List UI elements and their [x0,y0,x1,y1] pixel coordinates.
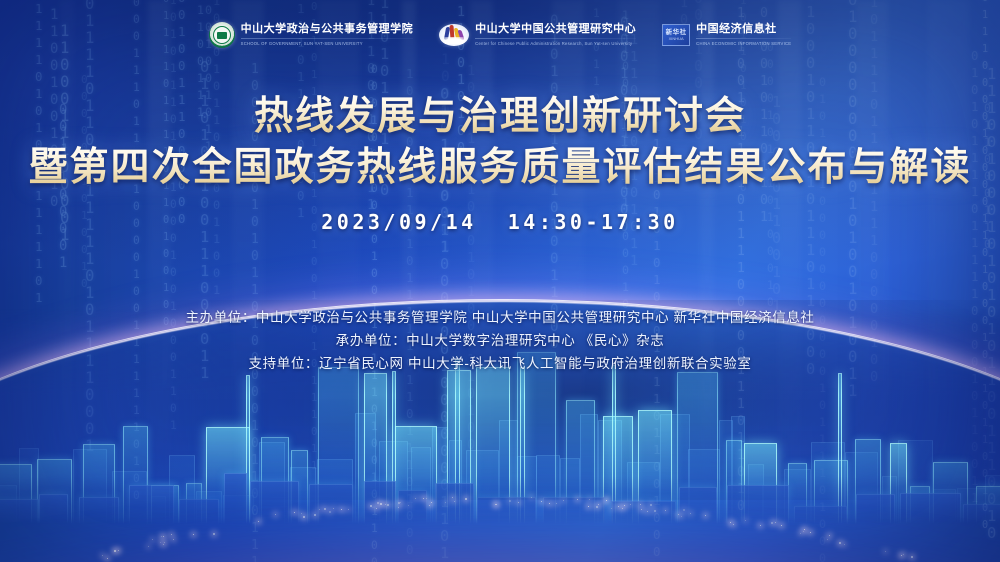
logo-en-name: Center for Chinese Public Administration… [475,40,636,47]
organizer-line-supporter: 支持单位：辽宁省民心网 中山大学-科大讯飞人工智能与政府治理创新联合实验室 [0,352,1000,375]
conference-poster: 0 0 1 0 1 0 0 0 0 1 0 1 1 1 1 1 0 0 1 1 … [0,0,1000,562]
skyline-building [963,504,1000,524]
skyline-building [543,497,605,524]
logo-school-of-government: 中山大学政治与公共事务管理学院 SCHOOL OF GOVERNMENT, SU… [209,22,414,48]
skyline-building [179,499,219,524]
skyline-building [224,473,247,524]
skyline-building [727,485,789,524]
skyline-building [250,481,299,524]
skyline-building [39,494,68,524]
logo-en-name: SCHOOL OF GOVERNMENT, SUN YAT-SEN UNIVER… [241,40,414,47]
logo-china-economic-information-service: 新华社XINHUA 中国经济信息社 CHINA ECONOMIC INFORMA… [662,23,791,47]
skyline-building [794,506,847,524]
skyline-building [309,484,353,524]
sysu-school-of-government-emblem-icon [209,22,235,48]
main-title-line-2: 暨第四次全国政务热线服务质量评估结果公布与解读 [0,142,1000,194]
skyline-building [129,485,174,524]
logo-ccpa-research-center: 中山大学中国公共管理研究中心 Center for Chinese Public… [439,23,636,47]
skyline-spire [838,373,842,524]
skyline-building [398,490,427,524]
logo-cn-name: 中山大学中国公共管理研究中心 [475,23,636,36]
logo-divider [475,38,636,39]
skyline-building [611,501,676,524]
skyline-building [679,487,717,524]
logo-divider [241,38,414,39]
skyline-building [364,481,396,524]
main-title-line-1: 热线发展与治理创新研讨会 [0,92,1000,142]
logo-en-name: CHINA ECONOMIC INFORMATION SERVICE [696,40,791,47]
skyline-building [900,493,961,524]
logo-divider [696,38,791,39]
skyline-building [856,494,895,524]
organizer-line-undertaker: 承办单位：中山大学数字治理研究中心 《民心》杂志 [0,329,1000,352]
organizer-line-host: 主办单位：中山大学政治与公共事务管理学院 中山大学中国公共管理研究中心 新华社中… [0,306,1000,329]
ccpa-research-center-emblem-icon [439,24,469,46]
ceis-emblem-icon: 新华社XINHUA [662,24,690,46]
event-datetime: 2023/09/14 14:30-17:30 [0,210,1000,234]
skyline-building [477,497,536,524]
sponsor-logo-bar: 中山大学政治与公共事务管理学院 SCHOOL OF GOVERNMENT, SU… [0,22,1000,48]
logo-cn-name: 中国经济信息社 [696,23,791,36]
skyline-building [435,483,474,524]
logo-cn-name: 中山大学政治与公共事务管理学院 [241,23,414,36]
title-block: 热线发展与治理创新研讨会 暨第四次全国政务热线服务质量评估结果公布与解读 202… [0,92,1000,234]
organizer-block: 主办单位：中山大学政治与公共事务管理学院 中山大学中国公共管理研究中心 新华社中… [0,306,1000,375]
skyline-building [0,499,39,524]
skyline-building [79,497,119,524]
